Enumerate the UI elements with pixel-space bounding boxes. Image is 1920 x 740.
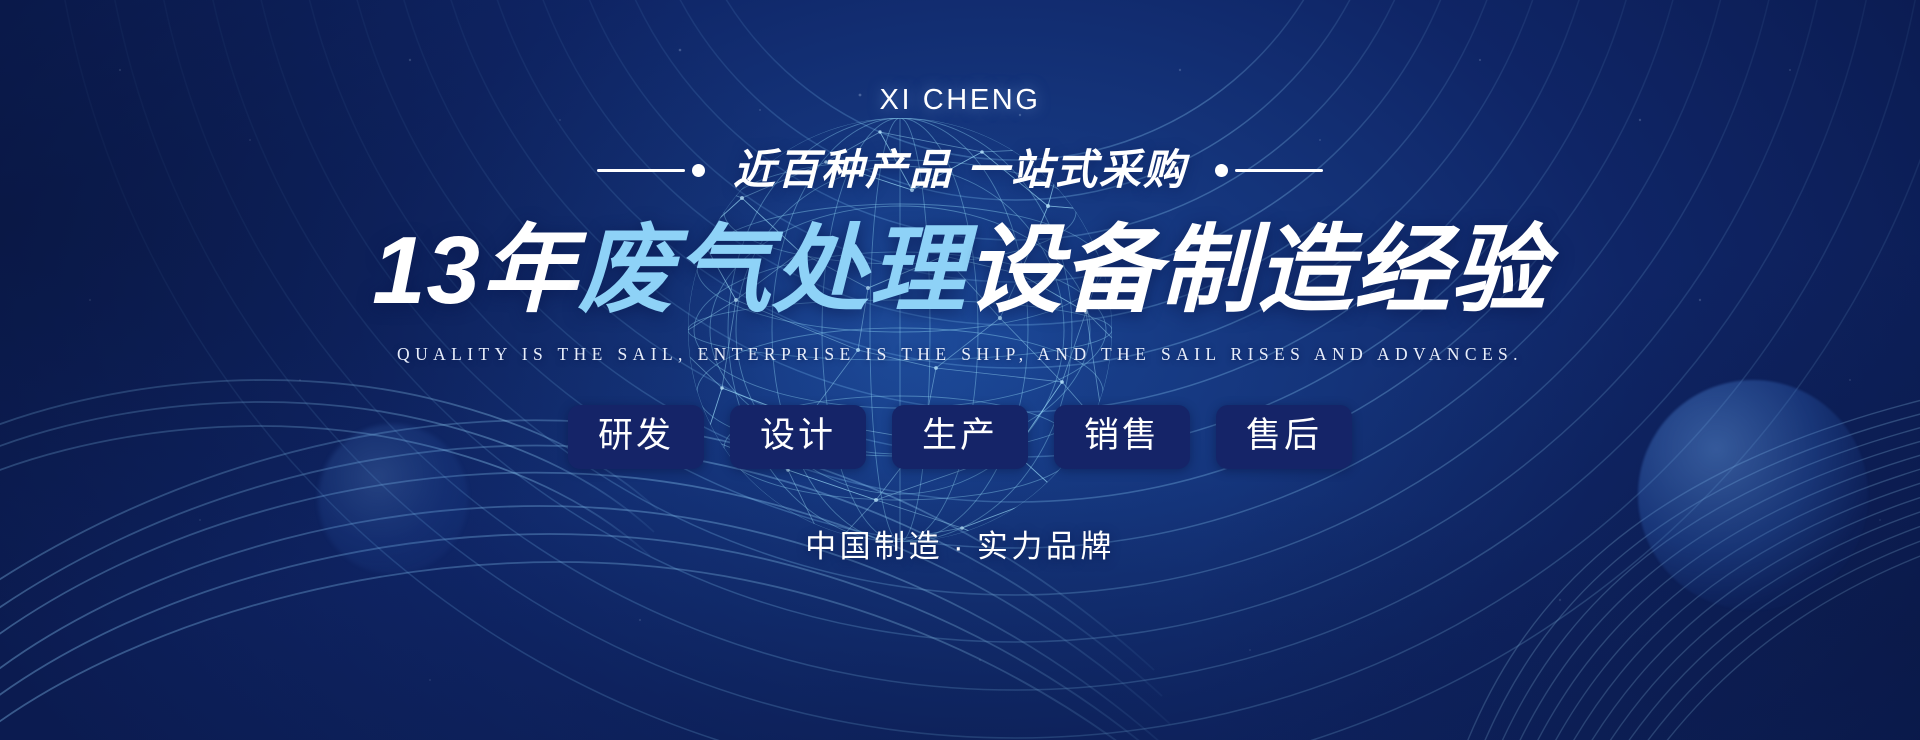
decorative-bar-left bbox=[597, 169, 685, 172]
footer-right-text: 实力品牌 bbox=[977, 529, 1115, 564]
capability-pill-after-sales[interactable]: 售后 bbox=[1216, 405, 1352, 469]
decorative-bar-right bbox=[1235, 169, 1323, 172]
banner-footer-line: 中国制造·实力品牌 bbox=[805, 521, 1115, 566]
subtitle-row: 近百种产品 一站式采购 bbox=[597, 149, 1323, 191]
capability-pill-row: 研发 设计 生产 销售 售后 bbox=[568, 405, 1352, 469]
headline-suffix: 设备制造经验 bbox=[966, 217, 1548, 324]
footer-left-text: 中国制造 bbox=[805, 529, 943, 564]
capability-pill-design[interactable]: 设计 bbox=[730, 405, 866, 469]
capability-pill-production[interactable]: 生产 bbox=[892, 405, 1028, 469]
decorative-line-right bbox=[1215, 164, 1323, 177]
promo-banner: XI CHENG 近百种产品 一站式采购 13年废气处理设备制造经验 QUALI… bbox=[0, 0, 1920, 740]
footer-separator: · bbox=[943, 529, 977, 564]
decorative-line-left bbox=[597, 164, 705, 177]
decorative-dot-left bbox=[692, 164, 705, 177]
headline-prefix: 13年 bbox=[372, 217, 578, 324]
banner-tagline: QUALITY IS THE SAIL, ENTERPRISE IS THE S… bbox=[397, 344, 1523, 365]
capability-pill-sales[interactable]: 销售 bbox=[1054, 405, 1190, 469]
headline-accent: 废气处理 bbox=[578, 217, 966, 324]
banner-headline: 13年废气处理设备制造经验 bbox=[372, 221, 1548, 322]
capability-pill-rd[interactable]: 研发 bbox=[568, 405, 704, 469]
decorative-dot-right bbox=[1215, 164, 1228, 177]
brand-latin-name: XI CHENG bbox=[880, 86, 1041, 115]
banner-subtitle: 近百种产品 一站式采购 bbox=[733, 149, 1187, 191]
banner-content: XI CHENG 近百种产品 一站式采购 13年废气处理设备制造经验 QUALI… bbox=[0, 0, 1920, 740]
